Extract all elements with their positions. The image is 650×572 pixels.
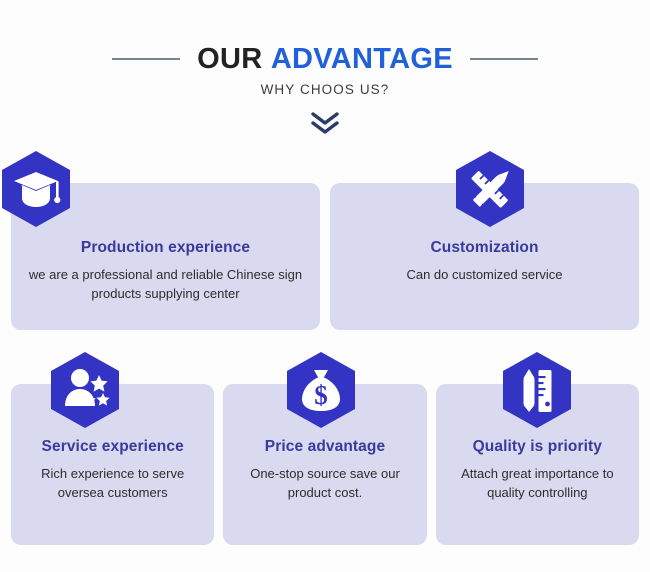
page-subtitle: WHY CHOOS US?	[0, 82, 650, 97]
card-title: Quality is priority	[448, 438, 627, 456]
page-title-part-two: ADVANTAGE	[271, 43, 453, 75]
section-header: OUR ADVANTAGE WHY CHOOS US?	[0, 44, 650, 136]
pencil-ruler-measure-icon	[501, 351, 573, 429]
card-title: Service experience	[23, 438, 202, 456]
card-customization[interactable]: Customization Can do customized service	[330, 183, 639, 330]
advantage-section: OUR ADVANTAGE WHY CHOOS US?	[0, 0, 650, 572]
card-title: Price advantage	[235, 438, 414, 456]
card-body: Service experience Rich experience to se…	[11, 438, 214, 503]
card-quality-is-priority[interactable]: Quality is priority Attach great importa…	[436, 384, 639, 545]
title-row: OUR ADVANTAGE	[0, 44, 650, 74]
card-title: Production experience	[23, 239, 308, 257]
card-service-experience[interactable]: Service experience Rich experience to se…	[11, 384, 214, 545]
graduation-cap-icon	[0, 150, 72, 228]
svg-text:$: $	[314, 380, 328, 410]
card-description: Can do customized service	[342, 266, 627, 285]
money-bag-icon: $	[285, 351, 357, 429]
card-description: Attach great importance to quality contr…	[448, 465, 627, 503]
card-body: Production experience we are a professio…	[11, 239, 320, 304]
card-body: Quality is priority Attach great importa…	[436, 438, 639, 503]
card-production-experience[interactable]: Production experience we are a professio…	[11, 183, 320, 330]
card-title: Customization	[342, 239, 627, 257]
decorative-line-left	[112, 58, 180, 60]
card-row-top: Production experience we are a professio…	[11, 183, 639, 330]
card-row-bottom: Service experience Rich experience to se…	[11, 384, 639, 545]
decorative-line-right	[470, 58, 538, 60]
pencil-ruler-icon	[454, 150, 526, 228]
double-chevron-down-icon	[0, 110, 650, 136]
person-stars-icon	[49, 351, 121, 429]
page-title: OUR ADVANTAGE	[197, 44, 453, 74]
card-description: we are a professional and reliable Chine…	[23, 266, 308, 304]
card-description: Rich experience to serve oversea custome…	[23, 465, 202, 503]
card-body: Customization Can do customized service	[330, 239, 639, 285]
page-title-part-one: OUR	[197, 43, 262, 75]
card-description: One-stop source save our product cost.	[235, 465, 414, 503]
card-price-advantage[interactable]: $ Price advantage One-stop source save o…	[223, 384, 426, 545]
card-body: Price advantage One-stop source save our…	[223, 438, 426, 503]
